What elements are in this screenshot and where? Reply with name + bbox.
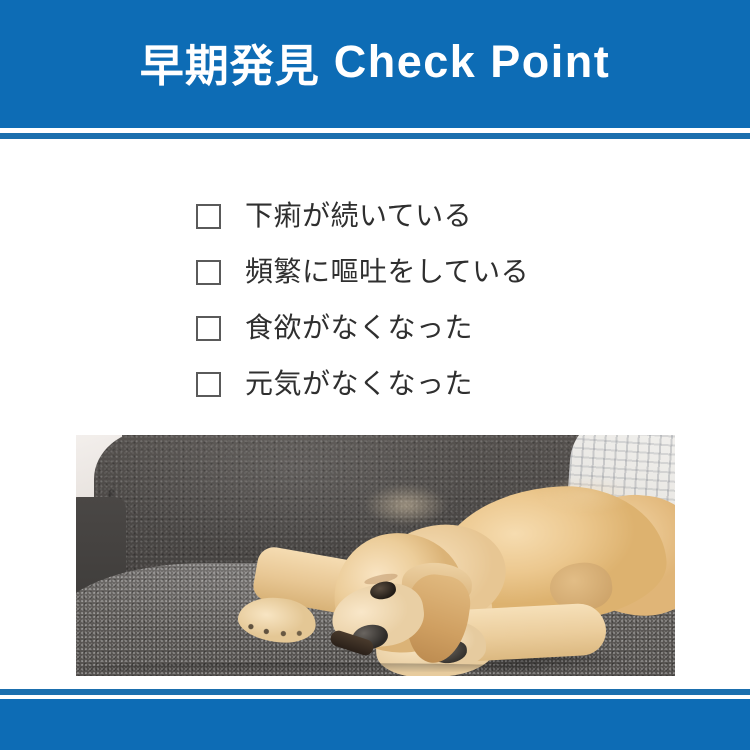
checkbox-icon[interactable] — [196, 204, 221, 229]
checkbox-icon[interactable] — [196, 260, 221, 285]
puppy-photo — [76, 435, 675, 676]
checklist-item-label: 頻繁に嘔吐をしている — [245, 258, 529, 286]
checklist-item-label: 下痢が続いている — [245, 202, 472, 230]
checklist-item[interactable]: 食欲がなくなった — [196, 300, 666, 356]
page-title: 早期発見Check Point — [0, 0, 750, 128]
checklist: 下痢が続いている 頻繁に嘔吐をしている 食欲がなくなった 元気がなくなった — [196, 188, 666, 412]
checkbox-icon[interactable] — [196, 372, 221, 397]
page-title-en: Check Point — [334, 36, 611, 88]
photo-puppy-fur-highlight — [326, 475, 675, 675]
photo-sofa-seat-fold — [76, 663, 546, 673]
check-point-card: 早期発見Check Point 下痢が続いている 頻繁に嘔吐をしている 食欲がな… — [0, 0, 750, 750]
footer-divider — [0, 689, 750, 695]
checklist-item[interactable]: 下痢が続いている — [196, 188, 666, 244]
page-title-jp: 早期発見 — [140, 30, 320, 94]
header-divider — [0, 133, 750, 139]
checklist-item[interactable]: 元気がなくなった — [196, 356, 666, 412]
checklist-item-label: 食欲がなくなった — [245, 314, 473, 342]
checkbox-icon[interactable] — [196, 316, 221, 341]
footer-band — [0, 699, 750, 750]
checklist-item-label: 元気がなくなった — [245, 370, 473, 398]
checklist-item[interactable]: 頻繁に嘔吐をしている — [196, 244, 666, 300]
